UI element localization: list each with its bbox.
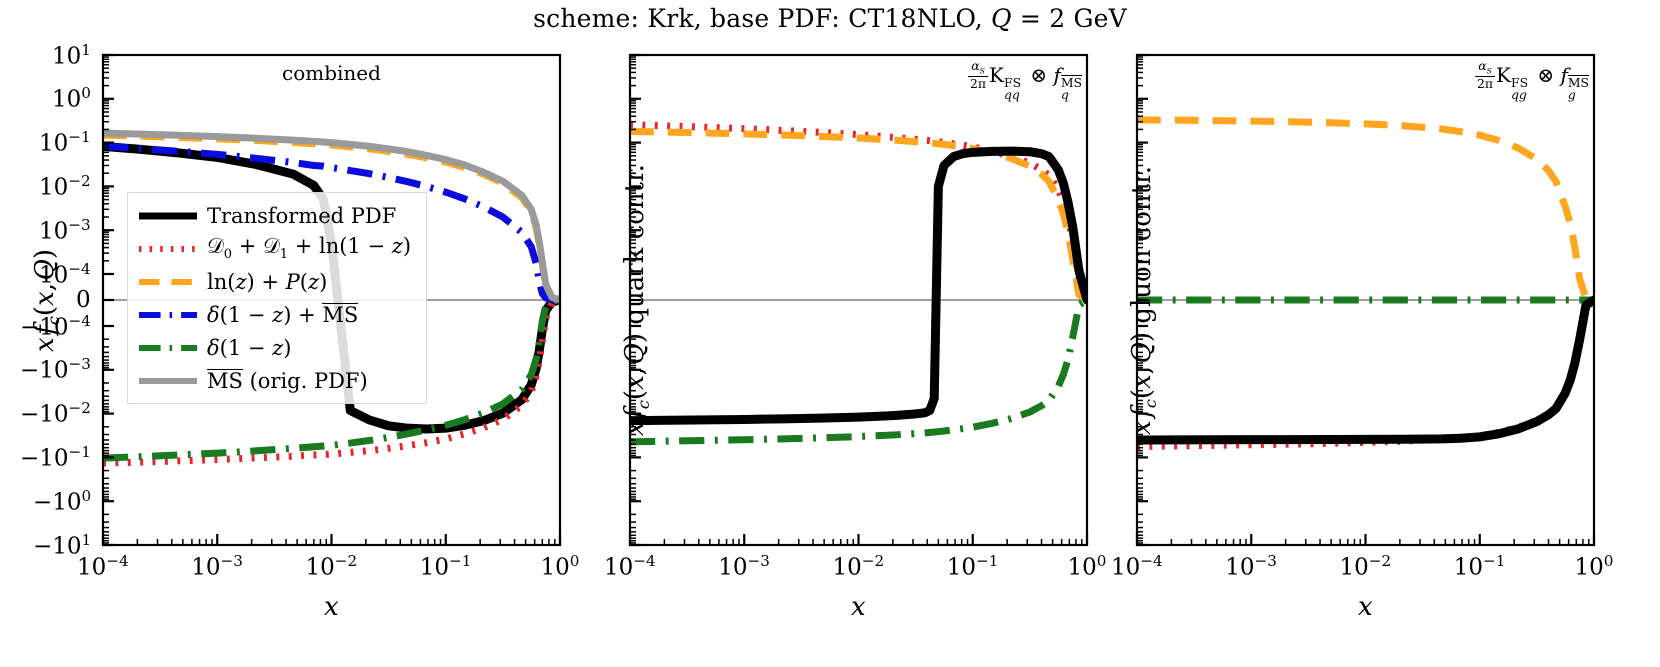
figure-canvas: scheme: Krk, base PDF: CT18NLO, Q = 2 Ge… bbox=[0, 0, 1660, 667]
xticklabel-2-0: 10−4 bbox=[1111, 552, 1163, 581]
yticklabel-2: 10−1 bbox=[39, 128, 91, 157]
yticklabel-5: 10−4 bbox=[39, 260, 91, 289]
yticklabel-4: 10−3 bbox=[39, 216, 91, 245]
xticklabel-2-2: 10−2 bbox=[1340, 552, 1392, 581]
legend-item-1[interactable]: 𝒟0 + 𝒟1 + ln(1 − z) bbox=[128, 232, 426, 265]
xticklabel-1-2: 10−2 bbox=[833, 552, 885, 581]
curve-ln-z-p-z- bbox=[630, 131, 1087, 300]
legend-label-0: Transformed PDF bbox=[207, 204, 396, 228]
yticklabel-3: 10−2 bbox=[39, 172, 91, 201]
yticklabel-7: −10−4 bbox=[20, 312, 91, 341]
yticklabel-1: 100 bbox=[52, 84, 91, 113]
yticklabel-10: −10−1 bbox=[20, 443, 91, 472]
yticklabel-11: −100 bbox=[33, 487, 91, 516]
curve-transformed-pdf bbox=[1137, 300, 1594, 440]
legend-key-1 bbox=[137, 238, 199, 260]
xticklabel-0-2: 10−2 bbox=[306, 552, 358, 581]
panel-0-xlabel: x bbox=[324, 592, 339, 622]
legend-item-5[interactable]: MS (orig. PDF) bbox=[128, 364, 426, 397]
xticklabel-1-3: 10−1 bbox=[947, 552, 999, 581]
xticklabel-0-3: 10−1 bbox=[420, 552, 472, 581]
panel-1-ylabel: x fc(x, Q) quark contr. bbox=[620, 164, 653, 436]
legend-key-3 bbox=[137, 304, 199, 326]
yticklabel-9: −10−2 bbox=[20, 399, 91, 428]
panel-1-xlabel: x bbox=[851, 592, 866, 622]
legend-label-3: δ(1 − z) + MS bbox=[207, 303, 358, 327]
panel-2-xlabel: x bbox=[1358, 592, 1373, 622]
legend-label-1: 𝒟0 + 𝒟1 + ln(1 − z) bbox=[207, 234, 411, 262]
legend-item-4[interactable]: δ(1 − z) bbox=[128, 331, 426, 364]
legend-item-0[interactable]: Transformed PDF bbox=[128, 199, 426, 232]
xticklabel-2-1: 10−3 bbox=[1225, 552, 1277, 581]
curve-ln-z-p-z- bbox=[1137, 120, 1594, 300]
yticklabel-12: −101 bbox=[33, 531, 91, 560]
xticklabel-1-4: 100 bbox=[1068, 552, 1107, 581]
yticklabel-6: 0 bbox=[76, 287, 91, 313]
panel-1-curves bbox=[630, 125, 1087, 442]
legend-item-3[interactable]: δ(1 − z) + MS bbox=[128, 298, 426, 331]
legend-label-4: δ(1 − z) bbox=[207, 336, 291, 360]
legend-key-4 bbox=[137, 337, 199, 359]
panel-2-curves bbox=[1137, 120, 1594, 447]
legend-item-2[interactable]: ln(z) + P(z) bbox=[128, 265, 426, 298]
legend-key-0 bbox=[137, 205, 199, 227]
xticklabel-0-1: 10−3 bbox=[191, 552, 243, 581]
xticklabel-1-0: 10−4 bbox=[604, 552, 656, 581]
legend-label-2: ln(z) + P(z) bbox=[207, 270, 327, 294]
yticklabel-0: 101 bbox=[52, 41, 91, 70]
xticklabel-0-4: 100 bbox=[541, 552, 580, 581]
legend-key-2 bbox=[137, 271, 199, 293]
yticklabel-8: −10−3 bbox=[20, 355, 91, 384]
legend-key-5 bbox=[137, 370, 199, 392]
xticklabel-1-1: 10−3 bbox=[718, 552, 770, 581]
legend[interactable]: Transformed PDF𝒟0 + 𝒟1 + ln(1 − z)ln(z) … bbox=[127, 192, 427, 404]
curve-transformed-pdf bbox=[630, 151, 1087, 421]
xticklabel-2-4: 100 bbox=[1575, 552, 1614, 581]
legend-label-5: MS (orig. PDF) bbox=[207, 369, 368, 393]
panel-2-ylabel: x fc(x, Q) gluon contr. bbox=[1127, 166, 1160, 435]
xticklabel-2-3: 10−1 bbox=[1454, 552, 1506, 581]
